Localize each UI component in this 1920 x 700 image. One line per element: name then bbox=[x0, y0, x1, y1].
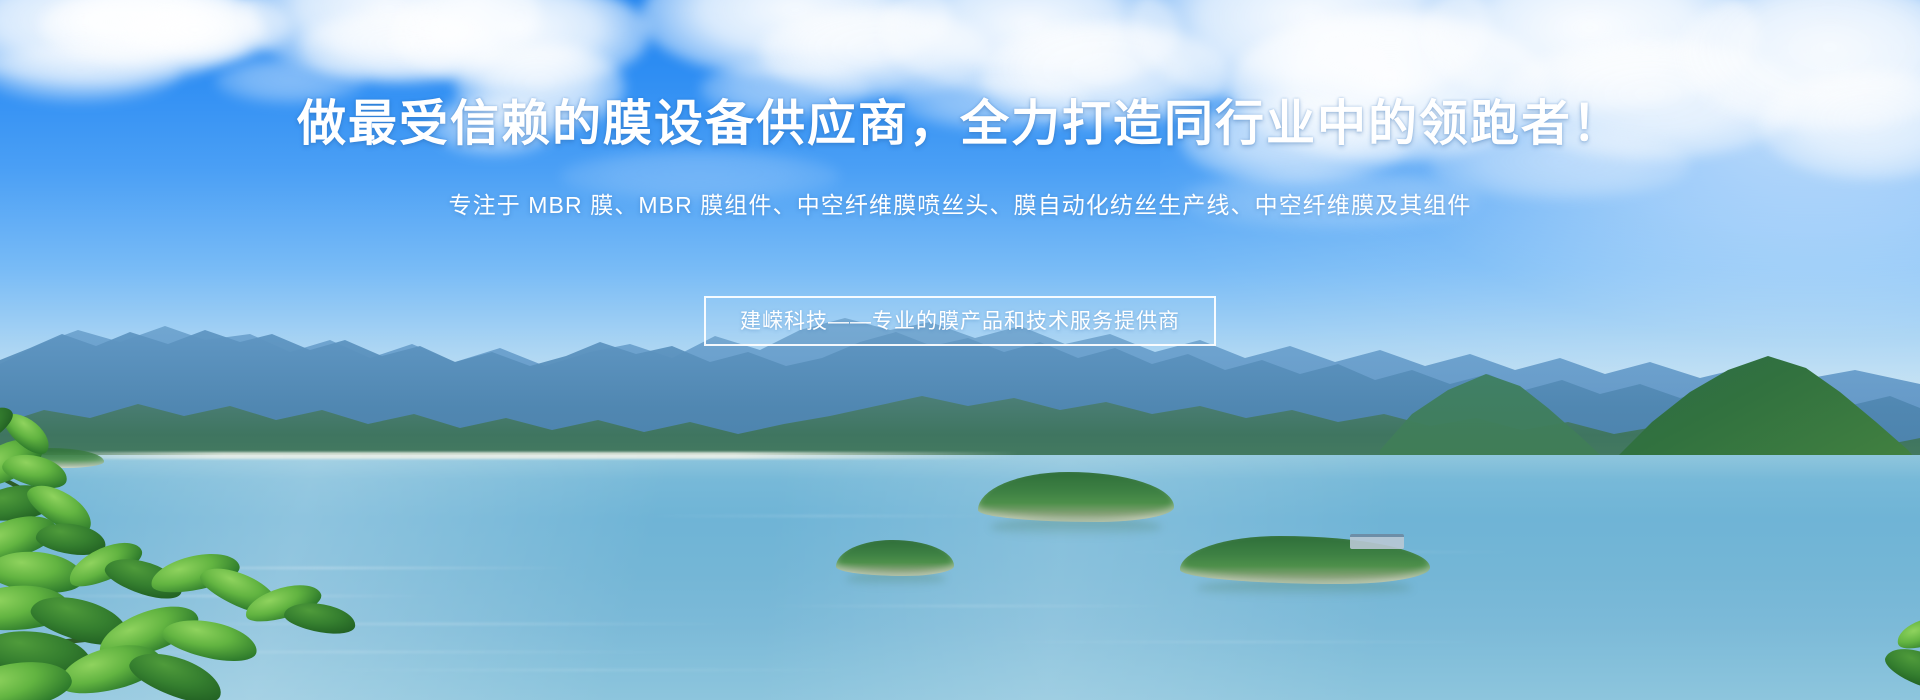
banner-headline: 做最受信赖的膜设备供应商，全力打造同行业中的领跑者！ bbox=[0, 96, 1920, 152]
banner-tagline-wrap: 建嵘科技——专业的膜产品和技术服务提供商 bbox=[0, 296, 1920, 346]
banner-subheadline: 专注于 MBR 膜、MBR 膜组件、中空纤维膜喷丝头、膜自动化纺丝生产线、中空纤… bbox=[0, 186, 1920, 220]
banner-tagline-box: 建嵘科技——专业的膜产品和技术服务提供商 bbox=[704, 296, 1216, 346]
hero-banner: 做最受信赖的膜设备供应商，全力打造同行业中的领跑者！ 专注于 MBR 膜、MBR… bbox=[0, 0, 1920, 700]
text-overlay: 做最受信赖的膜设备供应商，全力打造同行业中的领跑者！ 专注于 MBR 膜、MBR… bbox=[0, 0, 1920, 700]
